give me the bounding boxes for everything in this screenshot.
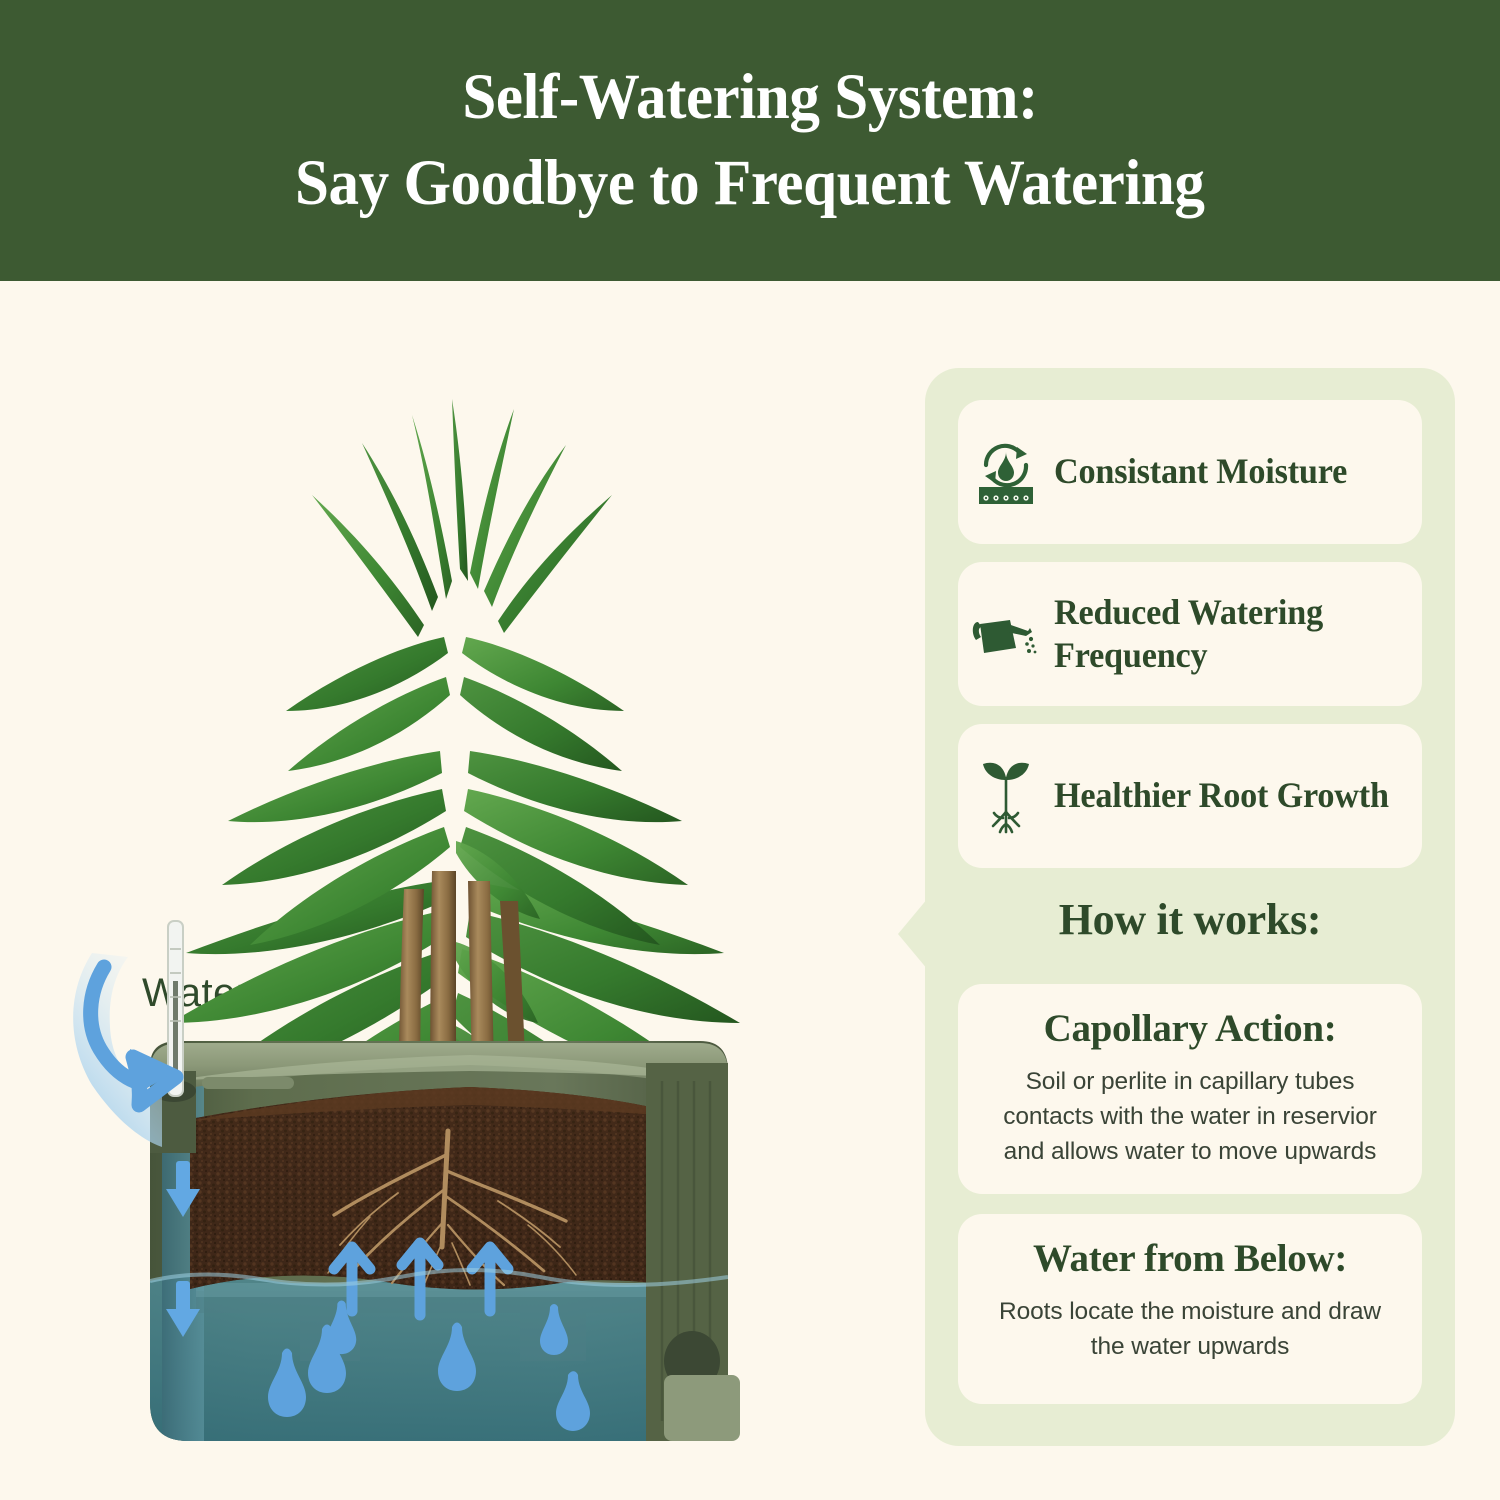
moisture-cycle-icon <box>958 439 1054 505</box>
benefit-card-healthier-roots[interactable]: Healthier Root Growth <box>958 724 1422 868</box>
benefit-label-line1: Reduced Watering <box>1054 591 1323 634</box>
plant-and-planter-graphic <box>0 281 900 1500</box>
step-body-water-from-below: Roots locate the moisture and draw the w… <box>984 1295 1396 1365</box>
planter-illustration: Water <box>0 281 900 1500</box>
benefit-label-consistent-moisture: Consistant Moisture <box>1054 450 1347 493</box>
watering-can-icon <box>958 606 1054 662</box>
step-title-water-from-below: Water from Below: <box>984 1236 1396 1281</box>
how-it-works-heading: How it works: <box>925 894 1455 945</box>
benefit-card-consistent-moisture[interactable]: Consistant Moisture <box>958 400 1422 544</box>
header-title-line1: Self-Watering System: <box>462 55 1038 141</box>
step-card-capillary-action[interactable]: Capollary Action: Soil or perlite in cap… <box>958 984 1422 1194</box>
header-title-line2: Say Goodbye to Frequent Watering <box>295 141 1204 227</box>
benefit-label-healthier-roots: Healthier Root Growth <box>1054 774 1389 817</box>
benefits-panel: Consistant Moisture Reduced Watering <box>925 368 1455 1446</box>
header-banner: Self-Watering System: Say Goodbye to Fre… <box>0 0 1500 281</box>
infographic-page: Self-Watering System: Say Goodbye to Fre… <box>0 0 1500 1500</box>
benefit-label-line2: Frequency <box>1054 634 1323 677</box>
planter-side-column <box>646 1063 740 1441</box>
benefit-card-reduced-watering[interactable]: Reduced Watering Frequency <box>958 562 1422 706</box>
panel-pointer-tail <box>898 898 928 970</box>
step-title-capillary-action: Capollary Action: <box>984 1006 1396 1051</box>
step-body-capillary-action: Soil or perlite in capillary tubes conta… <box>984 1065 1396 1169</box>
seedling-roots-icon <box>958 756 1054 836</box>
step-card-water-from-below[interactable]: Water from Below: Roots locate the moist… <box>958 1214 1422 1404</box>
benefit-label-reduced-watering: Reduced Watering Frequency <box>1054 591 1323 677</box>
